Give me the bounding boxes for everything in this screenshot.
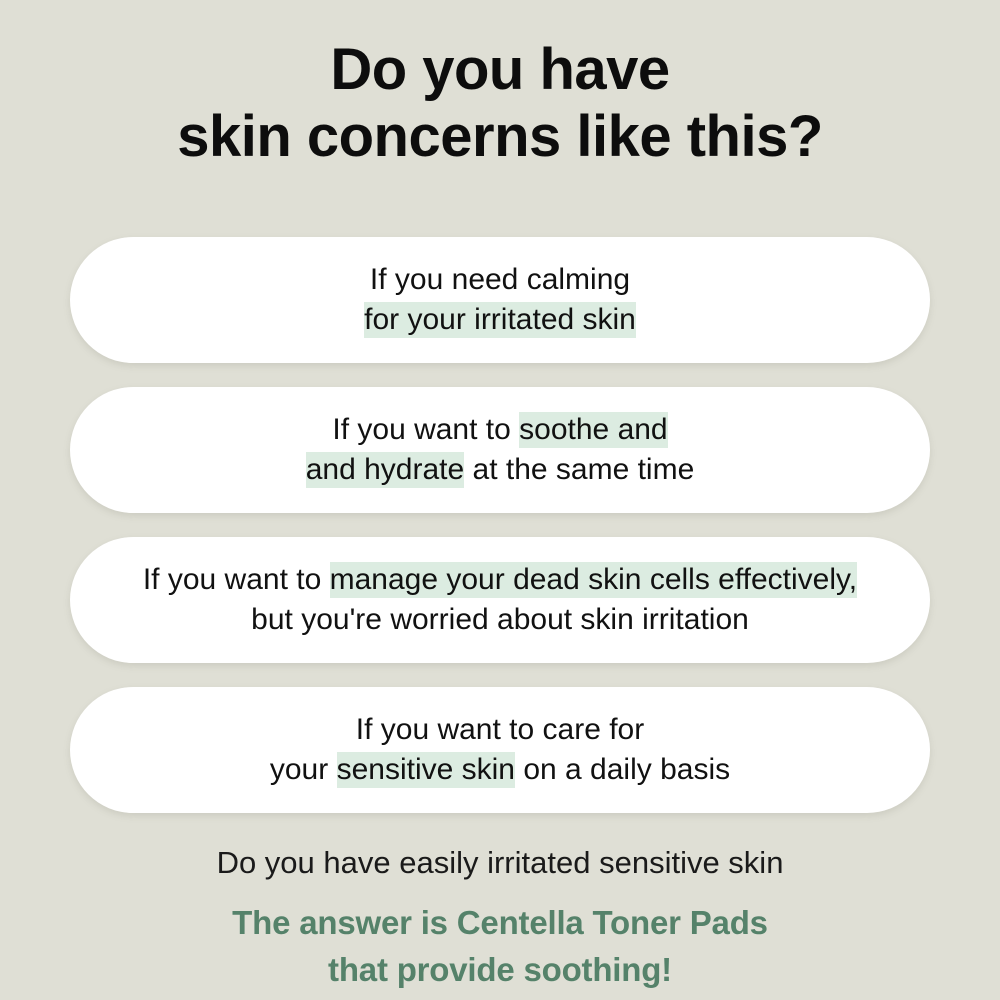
card-text-plain: but you're worried about skin irritation xyxy=(251,603,749,636)
headline-line-1: Do you have xyxy=(0,36,1000,103)
card-text-plain: If you need calming xyxy=(370,263,630,296)
card-text-highlight: manage your dead skin cells effectively, xyxy=(330,562,858,598)
concern-card[interactable]: If you want to soothe and and hydrate at… xyxy=(70,387,930,513)
concern-card-list: If you need calming for your irritated s… xyxy=(70,237,930,813)
headline-line-2: skin concerns like this? xyxy=(0,103,1000,170)
card-line: If you want to care for xyxy=(356,710,644,751)
card-line: If you want to soothe and xyxy=(332,410,667,451)
card-line: If you need calming xyxy=(370,260,630,301)
footer-question: Do you have easily irritated sensitive s… xyxy=(0,843,1000,883)
card-text-plain: If you want to care for xyxy=(356,713,644,746)
card-line: and hydrate at the same time xyxy=(306,450,695,491)
card-line: your sensitive skin on a daily basis xyxy=(270,750,730,791)
card-text-plain-after: at the same time xyxy=(464,453,694,486)
card-text-plain-after: on a daily basis xyxy=(515,753,730,786)
footer-answer-line-1: The answer is Centella Toner Pads xyxy=(0,900,1000,947)
concern-card[interactable]: If you want to care for your sensitive s… xyxy=(70,687,930,813)
footer-answer-line-2: that provide soothing! xyxy=(0,947,1000,994)
card-text-plain: If you want to xyxy=(332,413,519,446)
card-text-highlight: soothe and xyxy=(519,412,667,448)
card-line: for your irritated skin xyxy=(364,300,636,341)
card-text-highlight: for your irritated skin xyxy=(364,302,636,338)
concern-card[interactable]: If you want to manage your dead skin cel… xyxy=(70,537,930,663)
poster-root: Do you have skin concerns like this? If … xyxy=(0,0,1000,1000)
card-line: but you're worried about skin irritation xyxy=(251,600,749,641)
page-title: Do you have skin concerns like this? xyxy=(0,36,1000,171)
card-text-highlight: and hydrate xyxy=(306,452,464,488)
footer-callout: Do you have easily irritated sensitive s… xyxy=(0,843,1000,993)
card-text-highlight: sensitive skin xyxy=(337,752,515,788)
card-text-plain: your xyxy=(270,753,337,786)
card-line: If you want to manage your dead skin cel… xyxy=(143,560,857,601)
card-text-plain: If you want to xyxy=(143,563,330,596)
concern-card[interactable]: If you need calming for your irritated s… xyxy=(70,237,930,363)
